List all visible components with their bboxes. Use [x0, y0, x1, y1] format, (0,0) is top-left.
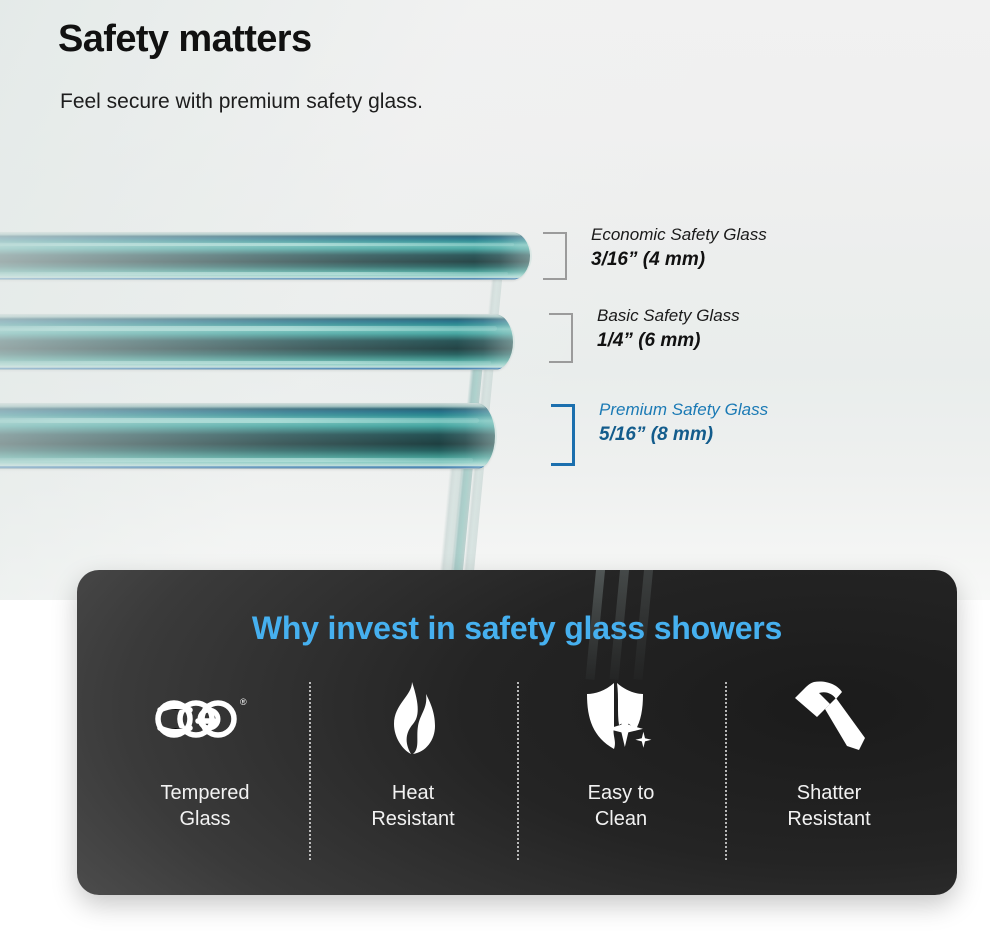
benefit-label-line2: Resistant — [787, 806, 870, 832]
callout-name: Basic Safety Glass — [597, 305, 740, 328]
callout-bracket — [551, 404, 575, 466]
flame-icon — [382, 680, 444, 756]
glass-highlight-top — [0, 326, 497, 330]
benefit-label-line2: Resistant — [371, 806, 454, 832]
glass-slab-economic — [0, 232, 530, 280]
callout-text: Basic Safety Glass 1/4” (6 mm) — [597, 305, 740, 354]
callout-name: Premium Safety Glass — [599, 399, 768, 422]
benefits-card: Why invest in safety glass showers — [77, 570, 957, 895]
glass-slab-nose — [439, 403, 497, 469]
benefit-label-line1: Heat — [392, 782, 434, 804]
glass-highlight-bottom — [0, 361, 491, 365]
glass-slab-nose — [457, 314, 515, 370]
callout-bracket — [543, 232, 567, 280]
glass-highlight-top — [0, 243, 514, 247]
benefits-list: ® Tempered Glass Heat Res — [101, 680, 933, 860]
callout-size: 3/16” (4 mm) — [591, 247, 767, 273]
svg-text:®: ® — [240, 697, 247, 707]
benefit-label-line2: Clean — [588, 806, 655, 832]
hammer-icon — [787, 680, 871, 756]
shield-sparkle-icon — [581, 680, 661, 756]
benefit-label-line2: Glass — [161, 806, 250, 832]
benefit-heat-resistant: Heat Resistant — [309, 680, 517, 860]
benefit-label: Tempered Glass — [161, 780, 250, 832]
callout-text: Economic Safety Glass 3/16” (4 mm) — [591, 224, 767, 273]
glass-highlight-bottom — [0, 272, 508, 275]
benefit-label-line1: Shatter — [797, 782, 861, 804]
page-subtitle: Feel secure with premium safety glass. — [60, 90, 423, 114]
callout-name: Economic Safety Glass — [591, 224, 767, 247]
page-title: Safety matters — [58, 18, 312, 61]
glass-highlight-top — [0, 418, 479, 423]
benefit-label-line1: Easy to — [588, 782, 655, 804]
sgcc-logo-icon: ® — [152, 680, 258, 756]
callout-bracket — [549, 313, 573, 363]
glass-photo-stage: Safety matters Feel secure with premium … — [0, 0, 990, 600]
glass-slab-basic — [0, 314, 513, 370]
benefit-label-line1: Tempered — [161, 782, 250, 804]
callout-size: 1/4” (6 mm) — [597, 328, 740, 354]
benefit-easy-to-clean: Easy to Clean — [517, 680, 725, 860]
benefit-tempered-glass: ® Tempered Glass — [101, 680, 309, 860]
glass-slab-nose — [474, 232, 532, 280]
callout-text: Premium Safety Glass 5/16” (8 mm) — [599, 399, 768, 448]
benefits-card-title: Why invest in safety glass showers — [77, 610, 957, 647]
glass-highlight-bottom — [0, 458, 473, 463]
glass-slab-premium — [0, 403, 495, 469]
benefit-label: Heat Resistant — [371, 780, 454, 832]
callout-size: 5/16” (8 mm) — [599, 422, 768, 448]
benefit-shatter-resistant: Shatter Resistant — [725, 680, 933, 860]
benefit-label: Easy to Clean — [588, 780, 655, 832]
benefit-label: Shatter Resistant — [787, 780, 870, 832]
product-feature-banner: Safety matters Feel secure with premium … — [0, 0, 990, 942]
